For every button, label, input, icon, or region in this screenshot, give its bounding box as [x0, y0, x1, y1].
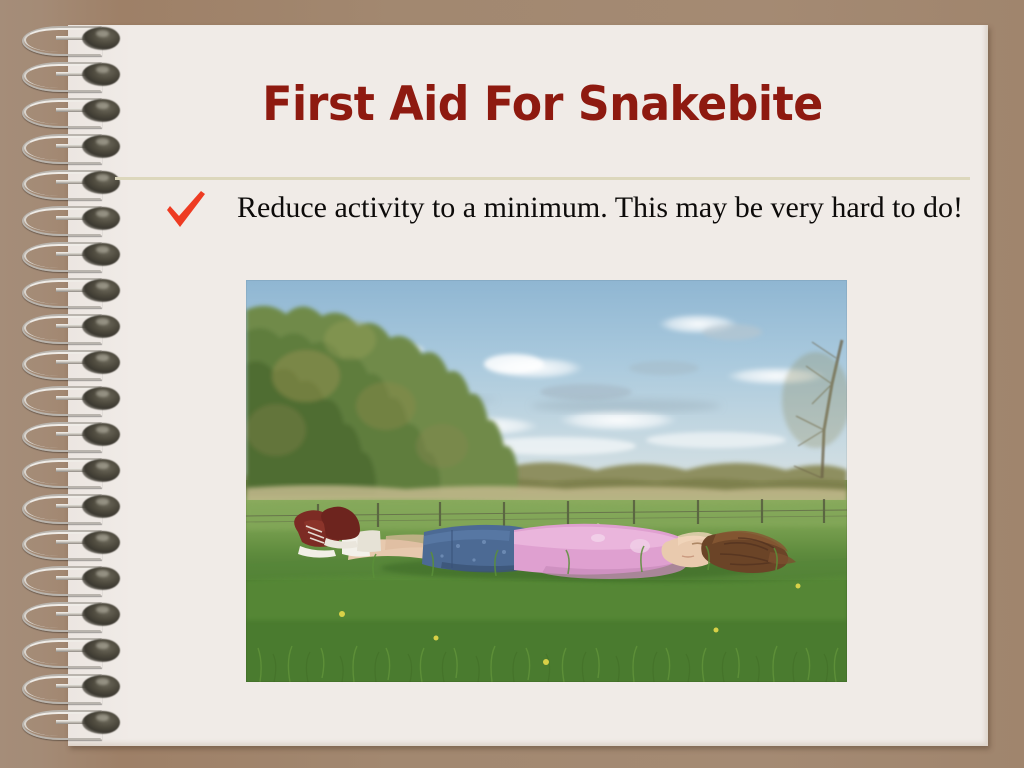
binding-coil — [0, 130, 160, 164]
binding-coil — [0, 346, 160, 380]
coil-head-gloss — [96, 570, 109, 577]
child-lying-in-grass-field-photo — [246, 280, 847, 682]
coil-head-gloss — [96, 534, 109, 541]
check-mark-icon — [163, 190, 209, 230]
binding-coil — [0, 94, 160, 128]
coil-head-gloss — [96, 678, 109, 685]
binding-coil — [0, 58, 160, 92]
coil-head-gloss — [96, 606, 109, 613]
coil-head-gloss — [96, 642, 109, 649]
binding-coil — [0, 310, 160, 344]
binding-coil — [0, 166, 160, 200]
coil-head-gloss — [96, 210, 109, 217]
coil-head-gloss — [96, 426, 109, 433]
coil-head-gloss — [96, 462, 109, 469]
coil-head-gloss — [96, 354, 109, 361]
coil-head-gloss — [96, 282, 109, 289]
binding-coil — [0, 382, 160, 416]
slide-root: First Aid For Snakebite Reduce activity … — [0, 0, 1024, 768]
coil-head-gloss — [96, 318, 109, 325]
binding-coil — [0, 454, 160, 488]
title-divider — [115, 177, 970, 180]
spiral-wire-binding — [0, 0, 160, 768]
binding-coil — [0, 598, 160, 632]
binding-coil — [0, 526, 160, 560]
coil-head-gloss — [96, 138, 109, 145]
coil-head-gloss — [96, 174, 109, 181]
binding-coil — [0, 22, 160, 56]
coil-head-gloss — [96, 66, 109, 73]
binding-coil — [0, 490, 160, 524]
slide-image — [246, 280, 847, 682]
coil-head-gloss — [96, 246, 109, 253]
binding-coil — [0, 418, 160, 452]
coil-head-gloss — [96, 498, 109, 505]
binding-coil — [0, 202, 160, 236]
binding-coil — [0, 634, 160, 668]
coil-head-gloss — [96, 714, 109, 721]
binding-coil — [0, 238, 160, 272]
binding-coil — [0, 670, 160, 704]
coil-head-gloss — [96, 30, 109, 37]
binding-coil — [0, 274, 160, 308]
coil-head-gloss — [96, 390, 109, 397]
bullet-item-text: Reduce activity to a minimum. This may b… — [225, 188, 975, 228]
binding-coil — [0, 562, 160, 596]
coil-head-gloss — [96, 102, 109, 109]
binding-coil — [0, 706, 160, 740]
page-title: First Aid For Snakebite — [141, 80, 945, 129]
